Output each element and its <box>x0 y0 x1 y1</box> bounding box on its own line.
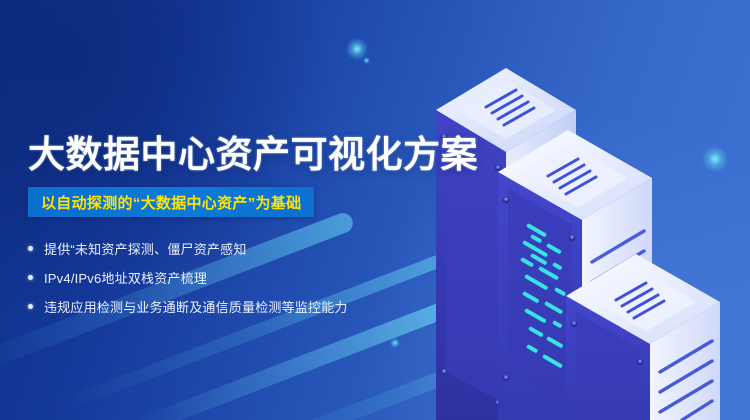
sparkle-dot <box>702 146 728 172</box>
server-rack-3 <box>566 254 720 420</box>
list-item-label: 提供“未知资产探测、僵尸资产感知 <box>44 239 247 258</box>
bullet-dot-icon <box>28 304 33 309</box>
cyan-data-readout <box>520 223 566 368</box>
subtitle-banner: 以自动探测的“大数据中心资产”为基础 <box>28 187 314 217</box>
list-item-label: 违规应用检测与业务通断及通信质量检测等监控能力 <box>44 297 348 316</box>
banner-content: 大数据中心资产可视化方案 以自动探测的“大数据中心资产”为基础 提供“未知资产探… <box>0 0 460 420</box>
subtitle-text: 以自动探测的“大数据中心资产”为基础 <box>41 192 301 213</box>
sparkle-dot <box>467 312 483 328</box>
server-rack-2 <box>498 130 652 420</box>
list-item-label: IPv4/IPv6地址双栈资产梳理 <box>44 268 207 287</box>
list-item: IPv4/IPv6地址双栈资产梳理 <box>28 263 448 292</box>
feature-bullet-list: 提供“未知资产探测、僵尸资产感知 IPv4/IPv6地址双栈资产梳理 违规应用检… <box>28 234 448 321</box>
marketing-banner: 大数据中心资产可视化方案 以自动探测的“大数据中心资产”为基础 提供“未知资产探… <box>0 0 750 420</box>
list-item: 提供“未知资产探测、僵尸资产感知 <box>28 234 448 263</box>
bullet-dot-icon <box>28 246 33 251</box>
list-item: 违规应用检测与业务通断及通信质量检测等监控能力 <box>28 292 448 321</box>
bullet-dot-icon <box>28 275 33 280</box>
sparkle-dot <box>545 378 565 398</box>
server-rack-illustration <box>420 0 750 420</box>
page-title: 大数据中心资产可视化方案 <box>28 124 478 178</box>
